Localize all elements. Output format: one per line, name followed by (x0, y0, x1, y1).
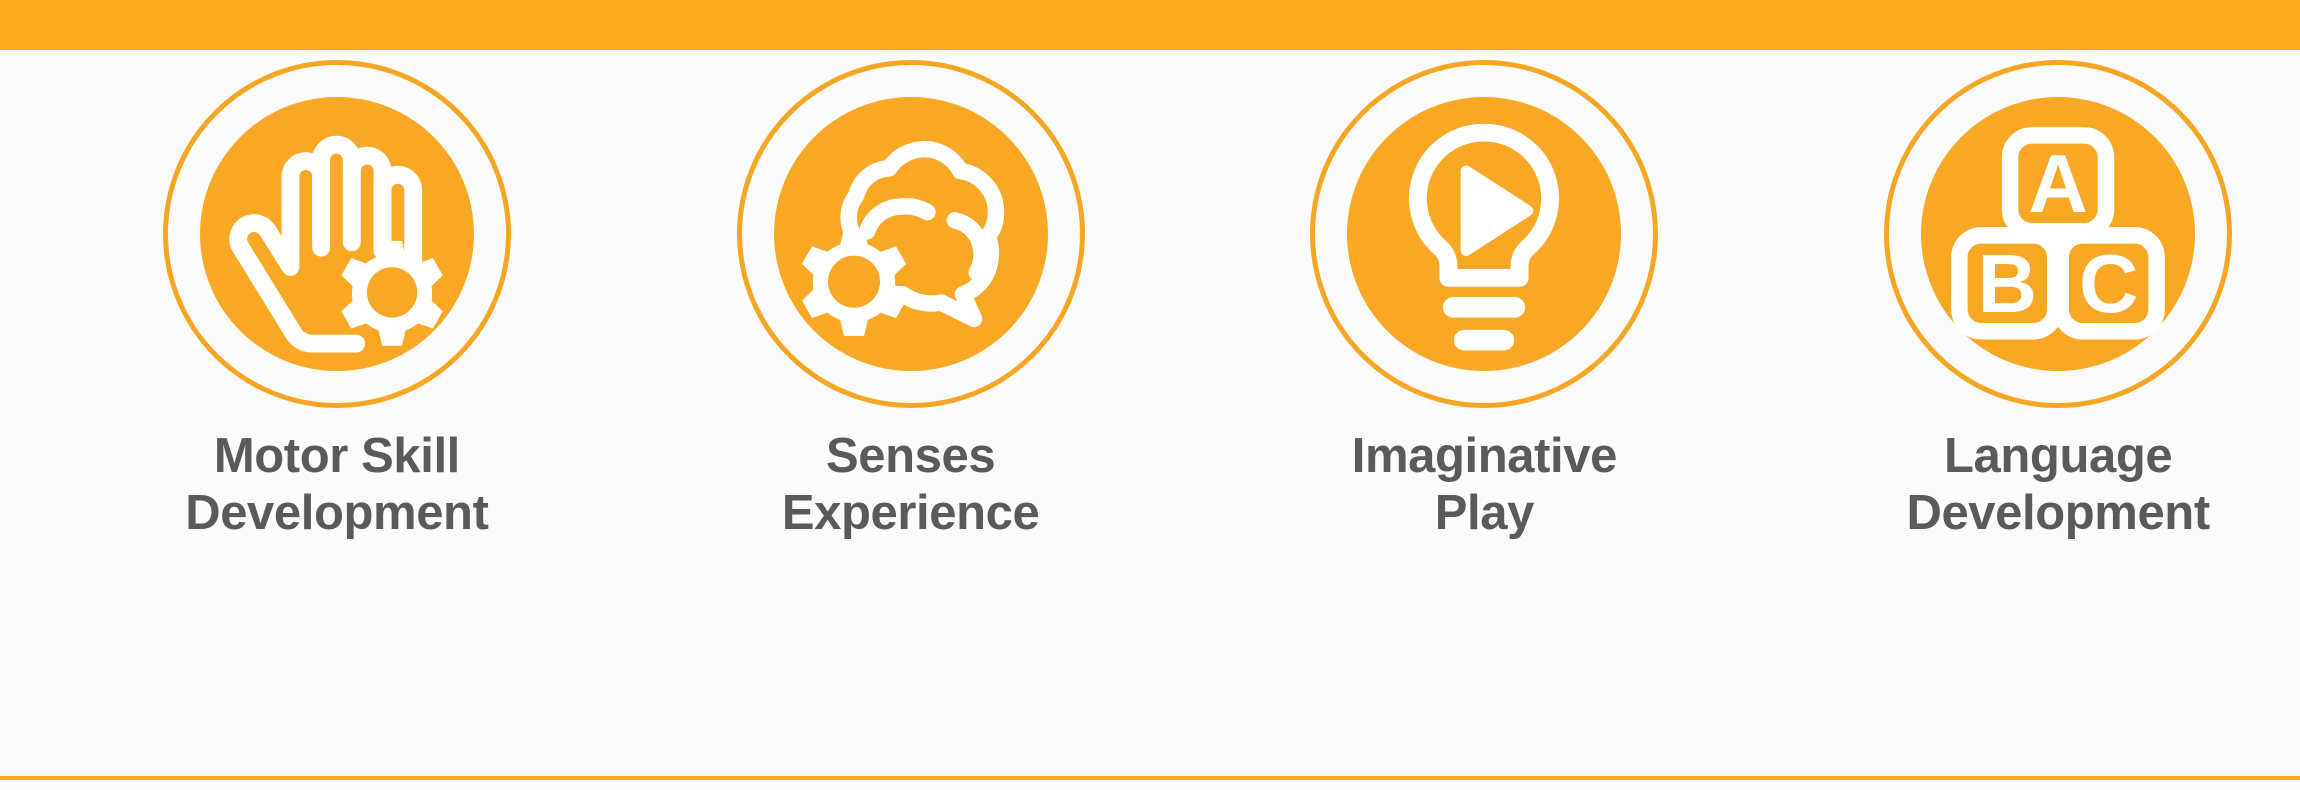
lightbulb-play-icon (1347, 97, 1621, 371)
feature-strip-page: Motor Skill Development (0, 0, 2300, 790)
letter-c: C (2079, 239, 2138, 330)
bulb-base-bar-1 (1443, 297, 1525, 318)
bulb-base-bar-2 (1454, 330, 1514, 351)
badge-imaginative-play[interactable] (1310, 60, 1658, 408)
letter-a: A (2028, 139, 2087, 230)
feature-strip: Motor Skill Development (0, 50, 2300, 776)
letter-b: B (1978, 239, 2037, 330)
feature-label-language-development: Language Development (1816, 428, 2300, 543)
feature-card-senses-experience[interactable]: Senses Experience (669, 50, 1153, 543)
feature-card-motor-skill-development[interactable]: Motor Skill Development (95, 50, 579, 543)
feature-card-language-development[interactable]: A B C Language Development (1816, 50, 2300, 543)
badge-motor-skill-development[interactable] (163, 60, 511, 408)
gear-shape (341, 241, 442, 346)
feature-card-imaginative-play[interactable]: Imaginative Play (1243, 50, 1727, 543)
hand-gear-icon (200, 97, 474, 371)
gear-shape (802, 229, 906, 336)
play-triangle (1467, 171, 1529, 250)
feature-label-motor-skill-development: Motor Skill Development (95, 428, 579, 543)
badge-senses-experience[interactable] (737, 60, 1085, 408)
top-orange-band (0, 0, 2300, 50)
abc-blocks-icon: A B C (1921, 97, 2195, 371)
feature-label-imaginative-play: Imaginative Play (1243, 428, 1727, 543)
feature-label-senses-experience: Senses Experience (669, 428, 1153, 543)
bottom-orange-rule (0, 776, 2300, 780)
badge-language-development[interactable]: A B C (1884, 60, 2232, 408)
brain-gear-icon (774, 97, 1048, 371)
